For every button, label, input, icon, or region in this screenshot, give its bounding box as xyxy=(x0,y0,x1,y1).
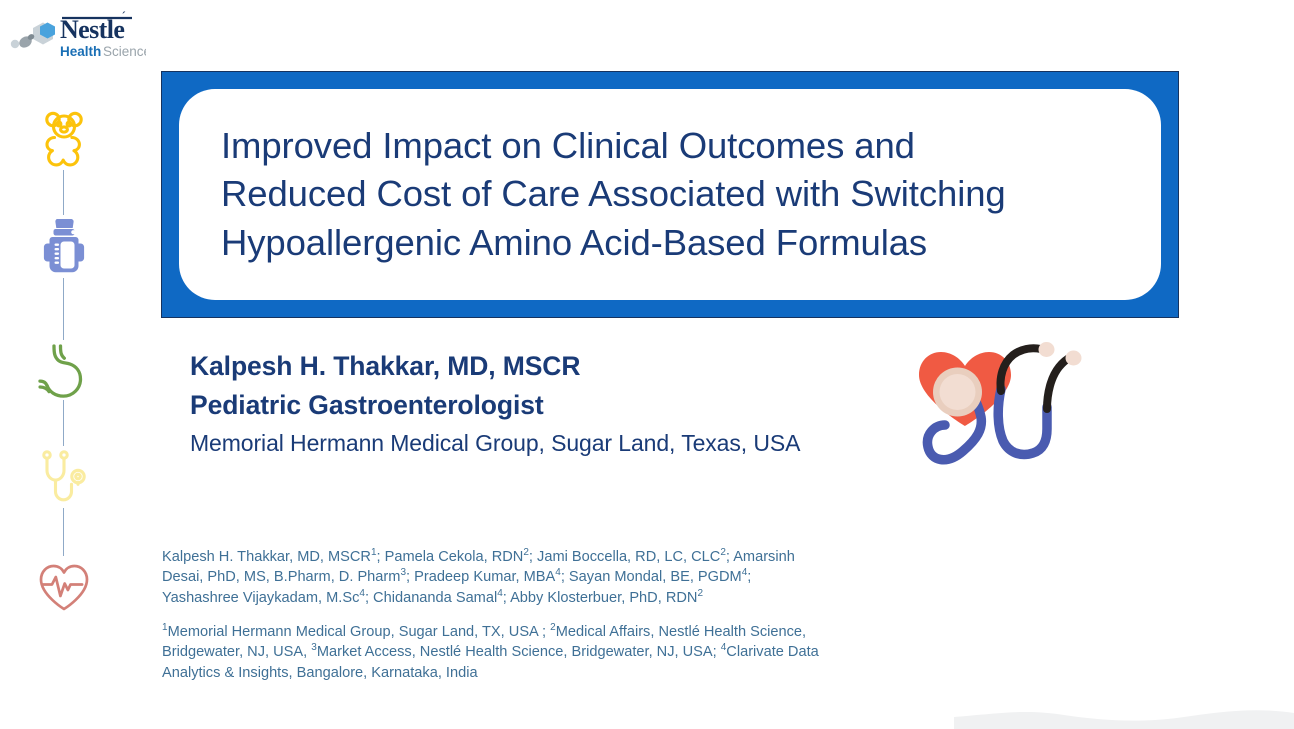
author-list: Kalpesh H. Thakkar, MD, MSCR1; Pamela Ce… xyxy=(162,547,927,608)
nestle-health-science-logo: Nestle ´ Health Science xyxy=(6,8,146,64)
title-panel: Improved Impact on Clinical Outcomes and… xyxy=(161,71,1179,318)
corner-swoosh-decoration xyxy=(954,683,1294,729)
rail-connector-4 xyxy=(63,508,64,556)
stethoscope-icon xyxy=(33,446,95,508)
illustration-chestpiece-face xyxy=(940,374,976,410)
affiliation-line-2: Bridgewater, NJ, USA, 3Market Access, Ne… xyxy=(162,642,930,662)
page-title: Improved Impact on Clinical Outcomes and… xyxy=(179,122,1046,268)
presenter-role: Pediatric Gastroenterologist xyxy=(190,386,910,425)
author-line-3: Yashashree Vijaykadam, M.Sc4; Chidananda… xyxy=(162,588,927,608)
title-line-2: Reduced Cost of Care Associated with Swi… xyxy=(221,170,1006,219)
presenter-organization: Memorial Hermann Medical Group, Sugar La… xyxy=(190,426,910,460)
author-line-2: Desai, PhD, MS, B.Pharm, D. Pharm3; Prad… xyxy=(162,567,927,587)
slide-root: Nestle ´ Health Science xyxy=(0,0,1294,729)
logo-sub-health: Health xyxy=(60,44,101,59)
title-line-1: Improved Impact on Clinical Outcomes and xyxy=(221,122,1006,171)
heart-stethoscope-illustration xyxy=(905,333,1110,501)
affiliation-line-3: Analytics & Insights, Bangalore, Karnata… xyxy=(162,663,930,683)
heartbeat-icon xyxy=(33,556,95,618)
logo-wordmark: Nestle xyxy=(60,15,124,44)
logo-sub-science: Science xyxy=(103,44,146,59)
title-panel-inner: Improved Impact on Clinical Outcomes and… xyxy=(179,89,1161,300)
rail-connector-1 xyxy=(63,170,64,215)
title-line-3: Hypoallergenic Amino Acid-Based Formulas xyxy=(221,219,1006,268)
illustration-ear-tube-right xyxy=(1047,357,1071,409)
affiliation-line-1: 1Memorial Hermann Medical Group, Sugar L… xyxy=(162,622,930,642)
logo-accent: ´ xyxy=(122,9,126,24)
icon-rail xyxy=(33,108,95,628)
presenter-name: Kalpesh H. Thakkar, MD, MSCR xyxy=(190,347,910,386)
presenter-block: Kalpesh H. Thakkar, MD, MSCR Pediatric G… xyxy=(190,347,910,460)
illustration-tube-center xyxy=(998,389,1047,455)
stomach-icon xyxy=(33,340,95,402)
illustration-earpiece-left xyxy=(1039,342,1055,357)
rail-connector-3 xyxy=(63,400,64,446)
sippy-cup-icon xyxy=(33,216,95,278)
teddy-bear-icon xyxy=(33,108,95,170)
affiliation-list: 1Memorial Hermann Medical Group, Sugar L… xyxy=(162,622,930,683)
author-line-1: Kalpesh H. Thakkar, MD, MSCR1; Pamela Ce… xyxy=(162,547,927,567)
logo-mark-icon xyxy=(11,23,55,50)
illustration-earpiece-right xyxy=(1066,351,1082,366)
rail-connector-2 xyxy=(63,278,64,340)
